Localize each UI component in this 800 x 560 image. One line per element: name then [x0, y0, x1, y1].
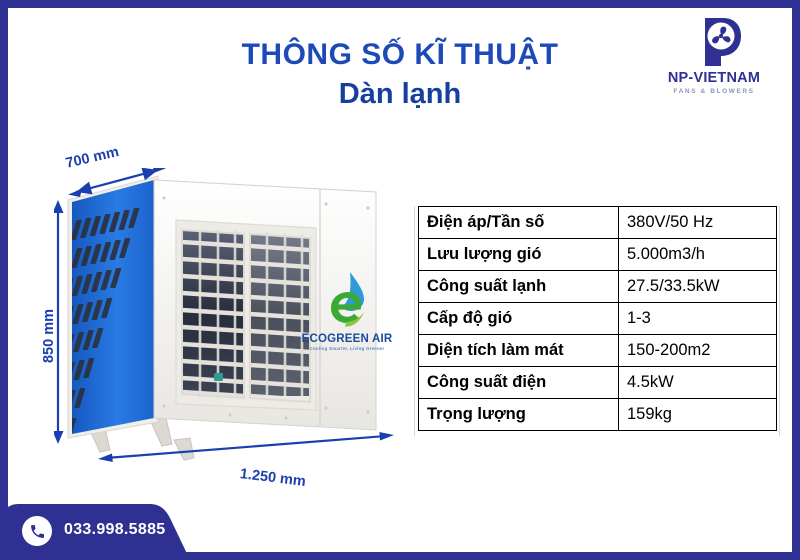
spec-table-body: Điện áp/Tần số 380V/50 Hz Lưu lượng gió …	[419, 207, 777, 431]
spec-value: 4.5kW	[619, 367, 777, 399]
brand-logo: NP-VIETNAM FANS & BLOWERS	[650, 16, 778, 95]
spec-table: Điện áp/Tần số 380V/50 Hz Lưu lượng gió …	[418, 206, 777, 431]
spec-value: 1-3	[619, 303, 777, 335]
spec-value: 27.5/33.5kW	[619, 271, 777, 303]
infographic-page: THÔNG SỐ KĨ THUẬT Dàn lạnh NP-VIETNAM FA…	[0, 0, 800, 560]
table-row: Lưu lượng gió 5.000m3/h	[419, 239, 777, 271]
grid-artifact-right	[779, 206, 780, 436]
spec-label: Trọng lượng	[419, 399, 619, 431]
table-row: Cấp độ gió 1-3	[419, 303, 777, 335]
spec-value: 150-200m2	[619, 335, 777, 367]
phone-icon	[22, 516, 52, 546]
np-vietnam-fan-logo-icon	[683, 16, 745, 68]
table-row: Điện áp/Tần số 380V/50 Hz	[419, 207, 777, 239]
spec-label: Điện áp/Tần số	[419, 207, 619, 239]
spec-value: 5.000m3/h	[619, 239, 777, 271]
spec-label: Công suất điện	[419, 367, 619, 399]
table-row: Trọng lượng 159kg	[419, 399, 777, 431]
spec-value: 380V/50 Hz	[619, 207, 777, 239]
table-row: Công suất lạnh 27.5/33.5kW	[419, 271, 777, 303]
air-cooler-unit-illustration: ECOGREEN AIR Cooling Smarter, Living Gre…	[54, 168, 404, 478]
spec-label: Lưu lượng gió	[419, 239, 619, 271]
contact-banner[interactable]: 033.998.5885	[0, 502, 230, 560]
spec-value: 159kg	[619, 399, 777, 431]
grid-artifact-left	[414, 206, 415, 436]
table-row: Công suất điện 4.5kW	[419, 367, 777, 399]
brand-tagline: FANS & BLOWERS	[650, 88, 778, 95]
product-image: ECOGREEN AIR Cooling Smarter, Living Gre…	[54, 168, 404, 478]
table-row: Diện tích làm mát 150-200m2	[419, 335, 777, 367]
svg-text:ECOGREEN AIR: ECOGREEN AIR	[302, 333, 393, 345]
spec-label: Công suất lạnh	[419, 271, 619, 303]
spec-label: Diện tích làm mát	[419, 335, 619, 367]
brand-name: NP-VIETNAM	[650, 70, 778, 86]
spec-label: Cấp độ gió	[419, 303, 619, 335]
phone-number: 033.998.5885	[64, 521, 165, 539]
dimension-label-height: 850 mm	[41, 309, 57, 363]
svg-text:Cooling Smarter, Living Greene: Cooling Smarter, Living Greener	[309, 346, 384, 351]
